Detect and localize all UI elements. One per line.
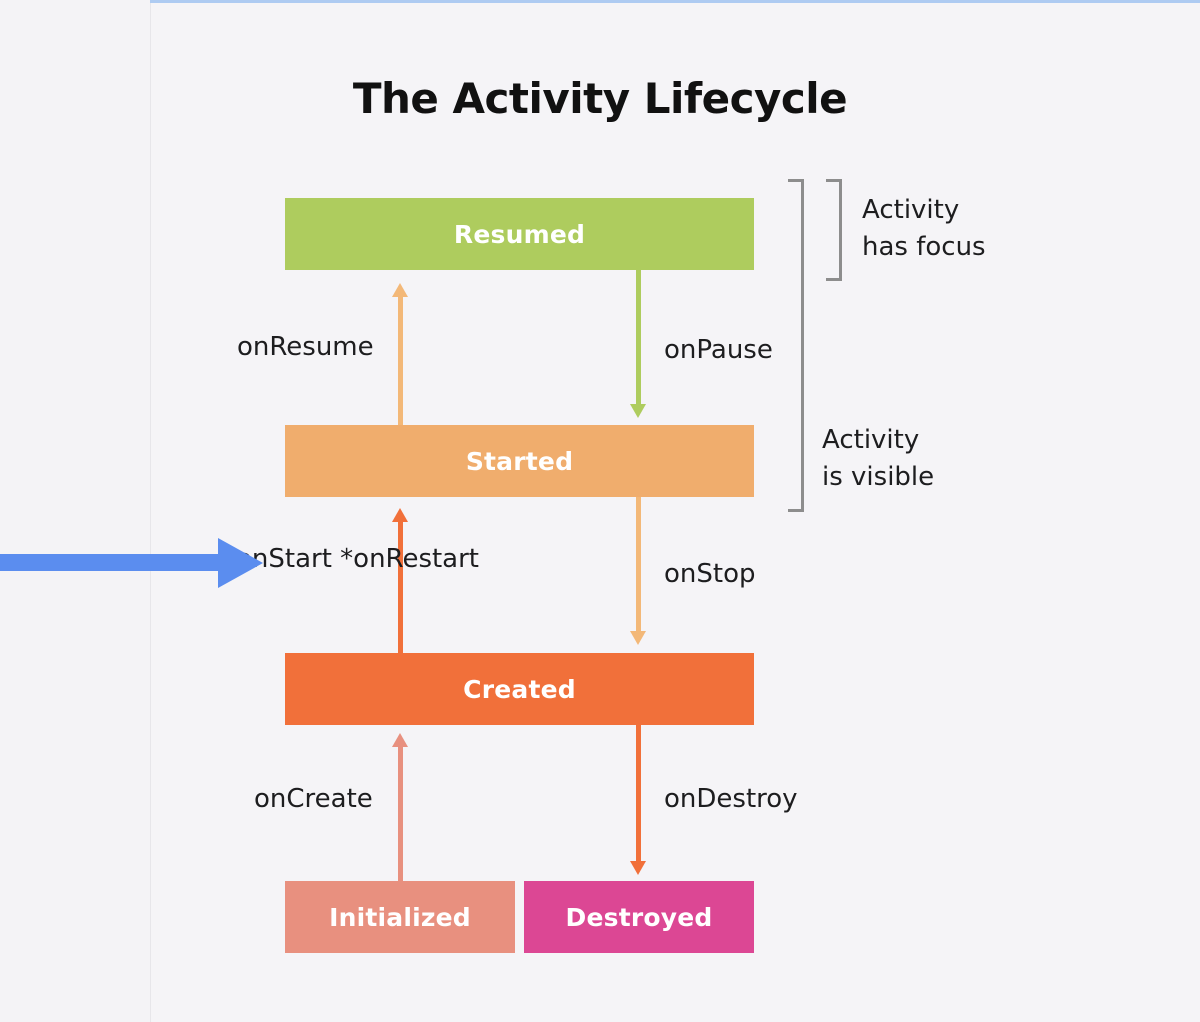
annotation-arrowhead-icon bbox=[218, 538, 263, 588]
transition-label-onstop: onStop bbox=[664, 558, 756, 591]
transition-label-onresume: onResume bbox=[237, 331, 374, 364]
transition-label-oncreate: onCreate bbox=[254, 783, 373, 816]
state-box-destroyed[interactable]: Destroyed bbox=[524, 881, 754, 953]
arrow-stem bbox=[398, 520, 403, 653]
arrow-stem bbox=[636, 725, 641, 861]
arrowhead-icon bbox=[630, 631, 646, 645]
arrowhead-icon bbox=[630, 404, 646, 418]
bracket-label-activity-has-focus: Activity has focus bbox=[862, 192, 986, 266]
state-box-started[interactable]: Started bbox=[285, 425, 754, 497]
arrow-stem bbox=[636, 497, 641, 631]
activity-lifecycle-diagram: The Activity Lifecycle Resumed Started C… bbox=[0, 0, 1200, 1022]
annotation-pointer-arrow-icon bbox=[0, 538, 265, 588]
transition-label-onpause: onPause bbox=[664, 334, 773, 367]
annotation-arrow-stem bbox=[0, 554, 222, 571]
arrowhead-icon bbox=[630, 861, 646, 875]
page-title: The Activity Lifecycle bbox=[0, 74, 1200, 123]
arrow-stem bbox=[398, 745, 403, 881]
state-box-resumed[interactable]: Resumed bbox=[285, 198, 754, 270]
bracket-label-activity-is-visible: Activity is visible bbox=[822, 422, 934, 496]
arrow-stem bbox=[398, 295, 403, 425]
bracket-activity-is-visible bbox=[788, 179, 804, 512]
state-box-created[interactable]: Created bbox=[285, 653, 754, 725]
arrow-stem bbox=[636, 270, 641, 404]
bracket-activity-has-focus bbox=[826, 179, 842, 281]
state-box-initialized[interactable]: Initialized bbox=[285, 881, 515, 953]
transition-label-ondestroy: onDestroy bbox=[664, 783, 798, 816]
